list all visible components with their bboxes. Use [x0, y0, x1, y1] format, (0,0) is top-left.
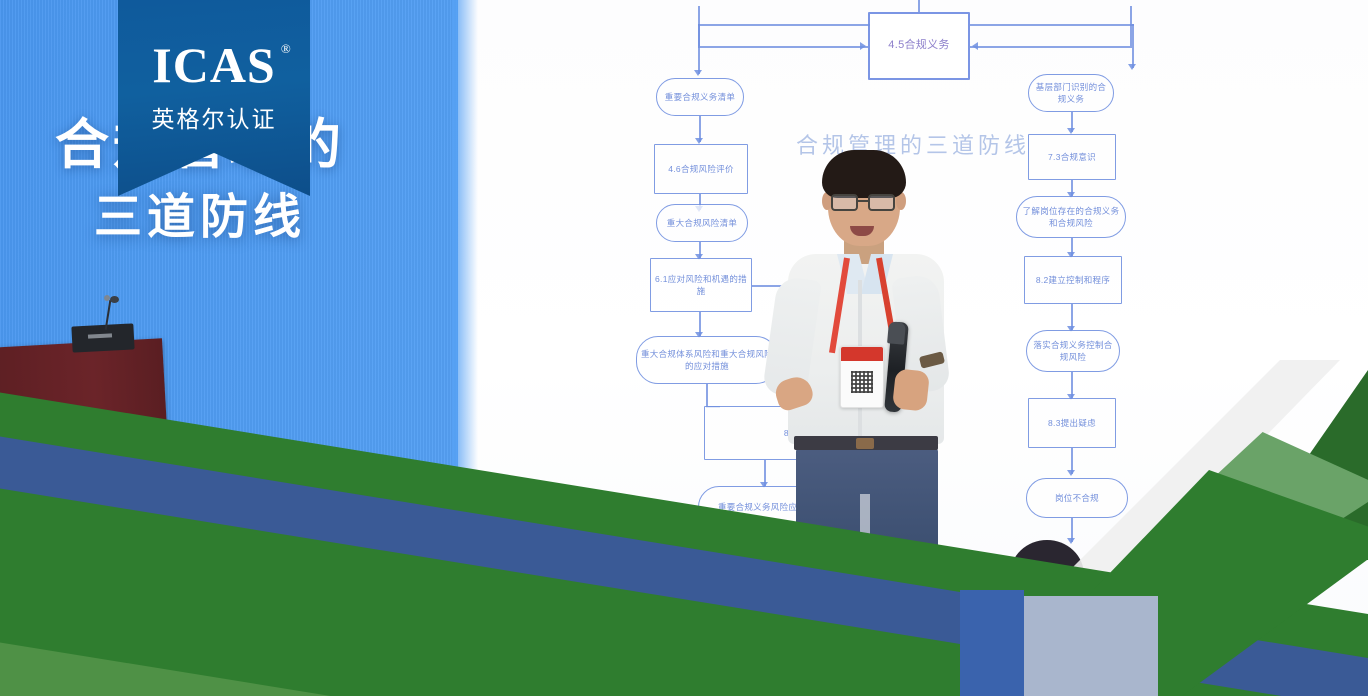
podium-top-surface	[71, 323, 134, 352]
flow-conn	[970, 24, 1134, 26]
flow-node-left-5: 重大合规体系风险和重大合规风险的应对措施	[636, 336, 778, 384]
flow-conn	[970, 46, 1132, 48]
icas-chinese-name: 英格尔认证	[152, 100, 277, 134]
flow-node-left-1: 重要合规义务清单	[656, 78, 744, 116]
flow-arrow	[972, 42, 978, 50]
flow-node-right-2: 7.3合规意识	[1028, 134, 1116, 180]
podium-microphone-tip	[104, 295, 110, 301]
flow-arrow	[694, 70, 702, 76]
flow-conn	[1132, 24, 1134, 68]
flow-node-left-2: 4.6合规风险评价	[654, 144, 748, 194]
speaker-glasses-left-lens	[831, 194, 858, 211]
flow-node-right-1: 基层部门识别的合规义务	[1028, 74, 1114, 112]
badge-header-bar	[841, 347, 883, 361]
overlay-rect-blue-dark	[960, 590, 1024, 696]
speaker-glasses-right-lens	[868, 194, 895, 211]
speaker-glasses-bridge	[858, 200, 868, 202]
flow-node-right-7: 岗位不合规	[1026, 478, 1128, 518]
flow-conn	[918, 0, 920, 12]
registered-trademark-icon: ®	[281, 42, 292, 55]
flow-node-right-3: 了解岗位存在的合规义务和合规风险	[1016, 196, 1126, 238]
flow-node-right-5: 落实合规义务控制合规风险	[1026, 330, 1120, 372]
flow-conn	[698, 24, 700, 74]
flow-conn	[698, 24, 870, 26]
flow-node-right-6: 8.3提出疑虑	[1028, 398, 1116, 448]
presentation-photo: 合规管理的 三道防线 ICAS ® 英格尔认证 合规管理的三道防线 4.5合规义…	[0, 0, 1368, 696]
podium-microphone-icon	[110, 296, 119, 303]
flow-node-right-4: 8.2建立控制和程序	[1024, 256, 1122, 304]
flow-node-left-3: 重大合规风险清单	[656, 204, 748, 242]
flow-arrow	[1067, 538, 1075, 544]
flow-node-hero: 4.5合规义务	[868, 12, 970, 80]
microphone-grille	[887, 321, 906, 344]
speaker-hair	[822, 150, 906, 198]
icas-wordmark-text: ICAS	[152, 37, 275, 93]
flow-arrow	[1128, 64, 1136, 70]
flow-conn	[706, 384, 708, 406]
flow-node-left-4: 6.1应对风险和机遇的措施	[650, 258, 752, 312]
flow-arrow	[860, 42, 866, 50]
qr-code-icon	[851, 371, 873, 393]
overlay-rect-blue-light	[1024, 596, 1158, 696]
flow-conn	[698, 46, 868, 48]
backdrop-title-line2: 三道防线	[0, 194, 400, 242]
speaker-right-hand	[892, 368, 930, 411]
speaker-belt-buckle	[856, 438, 874, 449]
speaker-badge	[840, 346, 884, 408]
flow-arrow	[1067, 470, 1075, 476]
icas-wordmark: ICAS ®	[152, 40, 275, 90]
